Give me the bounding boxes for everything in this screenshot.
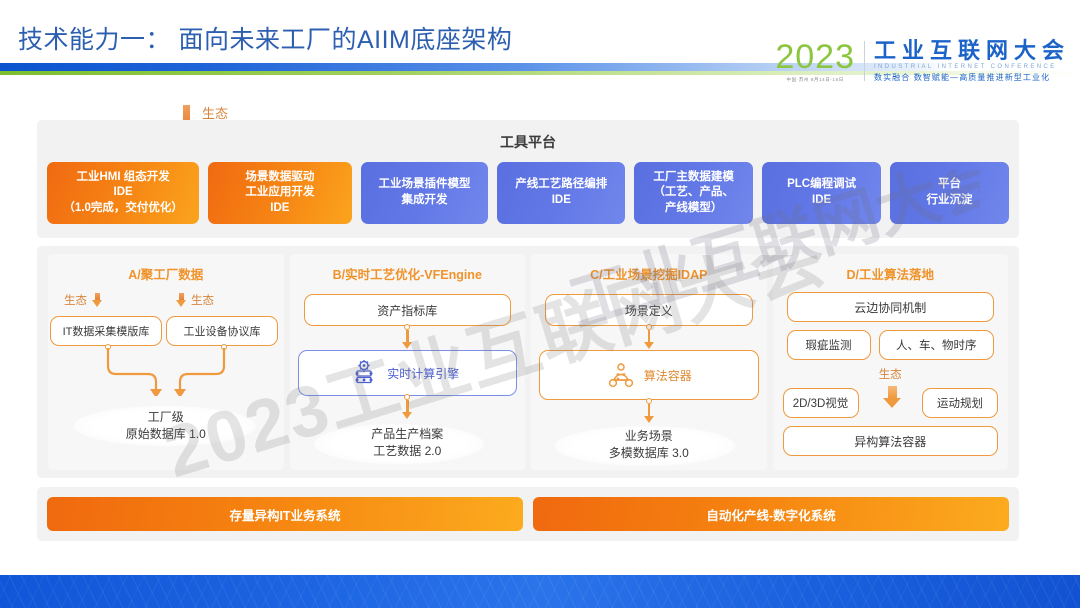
node-algorithm-container-label: 算法容器 — [644, 367, 692, 384]
tool-box-4-label: 产线工艺路径编排IDE — [515, 177, 607, 208]
tool-box-1-label: 工业HMI 组态开发IDE（1.0完成，交付优化） — [63, 170, 183, 217]
node-industrial-equipment-protocol-library[interactable]: 工业设备协议库 — [166, 316, 278, 346]
node-asset-indicator-library[interactable]: 资产指标库 — [304, 294, 512, 326]
node-defect-detection[interactable]: 瑕疵监测 — [787, 330, 871, 360]
tool-box-2[interactable]: 场景数据驱动工业应用开发IDE — [208, 162, 351, 224]
arrow-down-icon — [176, 293, 186, 307]
tool-box-7[interactable]: 平台行业沉淀 — [890, 162, 1009, 224]
tool-box-5-label: 工厂主数据建模（工艺、产品、产线模型） — [653, 170, 734, 217]
column-b-output-label: 产品生产档案工艺数据 2.0 — [290, 426, 526, 461]
column-d-eco-label: 生态 — [879, 366, 902, 382]
tool-box-3-label: 工业场景插件模型集成开发 — [378, 177, 470, 208]
tool-box-6-label: PLC编程调试IDE — [787, 177, 856, 208]
tool-platform-title: 工具平台 — [37, 132, 1019, 152]
column-a-eco-right: 生态 — [176, 292, 214, 308]
slide-header: 技术能力一： 面向未来工厂的AIIM底座架构 2023 中国·苏州 8月14日-… — [0, 0, 1080, 92]
node-cloud-edge-collaboration[interactable]: 云边协同机制 — [787, 292, 995, 322]
logo-year-subtitle: 中国·苏州 8月14日-16日 — [775, 77, 855, 83]
column-c-output-label: 业务场景多模数据库 3.0 — [531, 428, 767, 463]
logo-divider — [864, 41, 865, 81]
node-motion-planning[interactable]: 运动规划 — [922, 388, 998, 418]
arrow-down-icon — [92, 293, 102, 307]
column-a-eco-left: 生态 — [64, 292, 102, 308]
tool-box-6[interactable]: PLC编程调试IDE — [762, 162, 881, 224]
network-engine-icon — [355, 360, 381, 386]
node-it-data-collection-template-library[interactable]: IT数据采集模版库 — [50, 316, 162, 346]
node-2d-3d-vision[interactable]: 2D/3D视觉 — [783, 388, 859, 418]
column-d-title: D/工业算法落地 — [773, 264, 1009, 283]
arrow-down-icon — [644, 330, 654, 349]
logo-year: 2023 — [775, 40, 855, 74]
column-d-eco-label-wrap: 生态 — [773, 366, 1009, 382]
node-heterogeneous-algorithm-container[interactable]: 异构算法容器 — [783, 426, 999, 456]
tool-platform-box-row: 工业HMI 组态开发IDE（1.0完成，交付优化）场景数据驱动工业应用开发IDE… — [47, 162, 1009, 224]
logo-title-cn: 工业互联网大会 — [874, 39, 1070, 62]
tool-box-1[interactable]: 工业HMI 组态开发IDE（1.0完成，交付优化） — [47, 162, 199, 224]
column-a-eco-right-label: 生态 — [191, 292, 214, 308]
arrow-down-icon — [402, 400, 412, 419]
tool-platform-panel: 工具平台 工业HMI 组态开发IDE（1.0完成，交付优化）场景数据驱动工业应用… — [37, 120, 1019, 238]
column-a-output-label: 工厂级原始数据库 1.0 — [48, 409, 284, 444]
conference-logo: 2023 中国·苏州 8月14日-16日 工业互联网大会 INDUSTRIAL … — [775, 36, 1070, 86]
tool-box-3[interactable]: 工业场景插件模型集成开发 — [361, 162, 489, 224]
arrow-down-icon — [883, 386, 901, 408]
bottom-systems-panel: 存量异构IT业务系统自动化产线-数字化系统 — [37, 487, 1019, 541]
node-people-vehicle-goods-timeseries[interactable]: 人、车、物时序 — [879, 330, 995, 360]
node-algorithm-container[interactable]: 算法容器 — [539, 350, 759, 400]
arrow-down-icon — [402, 330, 412, 349]
column-a-connectors — [48, 348, 284, 396]
slide-footer — [0, 575, 1080, 608]
algorithm-robot-icon — [606, 360, 636, 390]
tool-box-2-label: 场景数据驱动工业应用开发IDE — [245, 170, 314, 217]
column-b-title: B/实时工艺优化-VFEngine — [290, 264, 526, 283]
column-c-industrial-scenario-mining: C/工业场景挖掘IDAP 场景定义 算法容器 — [531, 254, 767, 470]
column-d-industrial-algorithm-deployment: D/工业算法落地 云边协同机制 瑕疵监测 人、车、物时序 生态 2D/3D视觉 … — [773, 254, 1009, 470]
tool-box-5[interactable]: 工厂主数据建模（工艺、产品、产线模型） — [634, 162, 753, 224]
node-realtime-compute-engine[interactable]: 实时计算引擎 — [298, 350, 518, 396]
tool-box-4[interactable]: 产线工艺路径编排IDE — [497, 162, 625, 224]
column-b-realtime-process-optimization: B/实时工艺优化-VFEngine 资产指标库 实时计算引擎 — [290, 254, 526, 470]
bottom-bar-2-label: 自动化产线-数字化系统 — [706, 505, 835, 524]
bottom-bar-1-label: 存量异构IT业务系统 — [229, 505, 340, 524]
arrow-down-icon — [644, 404, 654, 423]
column-c-title: C/工业场景挖掘IDAP — [531, 264, 767, 283]
column-a-factory-data: A/聚工厂数据 生态 生态 IT数据采集模版库 工业设备协议库 工厂级原始数据库… — [48, 254, 284, 470]
node-realtime-compute-engine-label: 实时计算引擎 — [387, 365, 459, 382]
footer-mesh-pattern — [0, 575, 1080, 608]
bottom-bar-1[interactable]: 存量异构IT业务系统 — [47, 497, 523, 531]
logo-text-block: 工业互联网大会 INDUSTRIAL INTERNET CONFERENCE 数… — [874, 39, 1070, 83]
logo-tagline: 数实融合 数智赋能—高质量推进新型工业化 — [874, 72, 1070, 83]
column-a-title: A/聚工厂数据 — [48, 264, 284, 283]
capability-columns-panel: A/聚工厂数据 生态 生态 IT数据采集模版库 工业设备协议库 工厂级原始数据库… — [37, 246, 1019, 478]
page-title: 技术能力一： 面向未来工厂的AIIM底座架构 — [18, 20, 512, 56]
bottom-bar-2[interactable]: 自动化产线-数字化系统 — [533, 497, 1009, 531]
column-a-eco-left-label: 生态 — [64, 292, 87, 308]
tool-box-7-label: 平台行业沉淀 — [927, 177, 973, 208]
logo-year-block: 2023 中国·苏州 8月14日-16日 — [775, 40, 855, 83]
node-scenario-definition[interactable]: 场景定义 — [545, 294, 753, 326]
logo-title-en: INDUSTRIAL INTERNET CONFERENCE — [874, 64, 1070, 70]
